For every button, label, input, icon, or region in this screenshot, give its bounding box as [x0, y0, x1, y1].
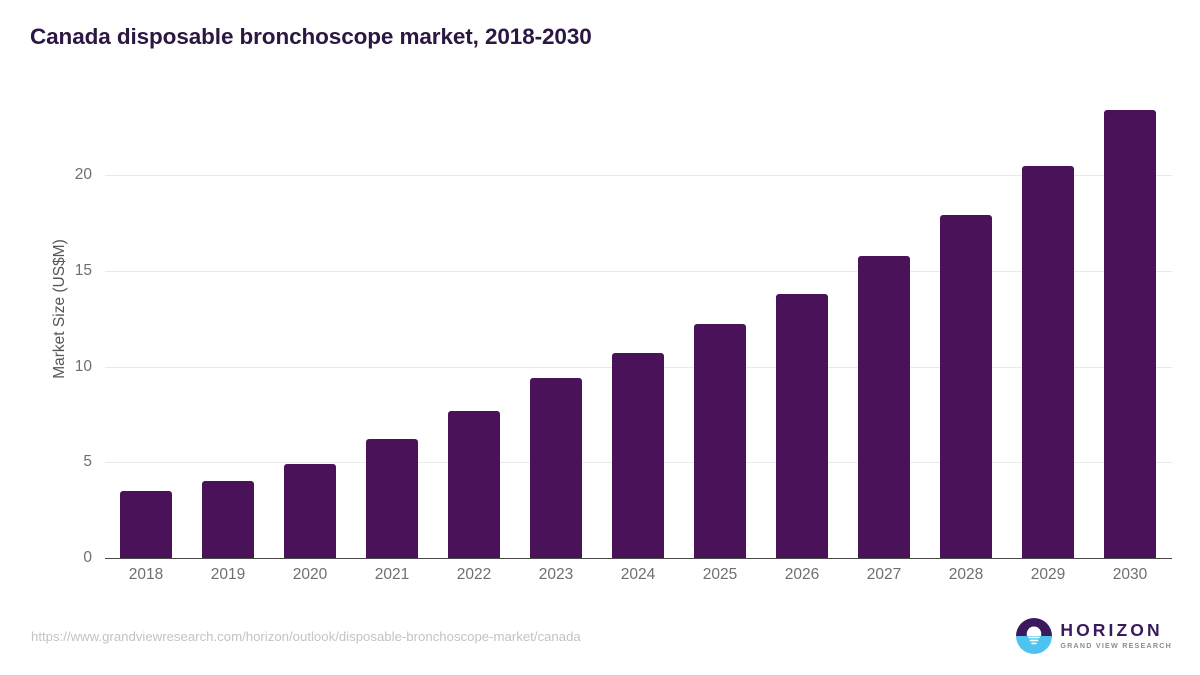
x-tick-label: 2026 [761, 566, 843, 584]
bar-2024[interactable] [612, 353, 664, 558]
x-tick-label: 2027 [843, 566, 925, 584]
x-tick-label: 2022 [433, 566, 515, 584]
bar-2022[interactable] [448, 411, 500, 558]
bar-2029[interactable] [1022, 166, 1074, 558]
bar-2018[interactable] [120, 491, 172, 558]
logo-title: HORIZON [1060, 622, 1172, 640]
bar-2019[interactable] [202, 481, 254, 558]
x-tick-label: 2028 [925, 566, 1007, 584]
x-tick-label: 2030 [1089, 566, 1171, 584]
bar-2030[interactable] [1104, 110, 1156, 558]
bar-2028[interactable] [940, 215, 992, 558]
x-tick-label: 2025 [679, 566, 761, 584]
source-url[interactable]: https://www.grandviewresearch.com/horizo… [31, 629, 581, 644]
logo-wordmark: HORIZON GRAND VIEW RESEARCH [1060, 622, 1172, 650]
chart-card: Canada disposable bronchoscope market, 2… [0, 0, 1200, 675]
x-tick-label: 2024 [597, 566, 679, 584]
logo-subtitle: GRAND VIEW RESEARCH [1060, 643, 1172, 650]
x-tick-label: 2021 [351, 566, 433, 584]
plot-area: Market Size (US$M) 05101520 201820192020… [0, 0, 1200, 675]
bar-2023[interactable] [530, 378, 582, 558]
horizon-sunrise-icon [1016, 618, 1052, 654]
bar-2026[interactable] [776, 294, 828, 558]
bar-2025[interactable] [694, 324, 746, 558]
x-tick-label: 2023 [515, 566, 597, 584]
x-tick-label: 2019 [187, 566, 269, 584]
x-tick-label: 2020 [269, 566, 351, 584]
x-tick-label: 2029 [1007, 566, 1089, 584]
brand-logo[interactable]: HORIZON GRAND VIEW RESEARCH [1016, 618, 1172, 654]
bar-2021[interactable] [366, 439, 418, 558]
x-tick-label: 2018 [105, 566, 187, 584]
bar-2027[interactable] [858, 256, 910, 558]
bar-2020[interactable] [284, 464, 336, 558]
